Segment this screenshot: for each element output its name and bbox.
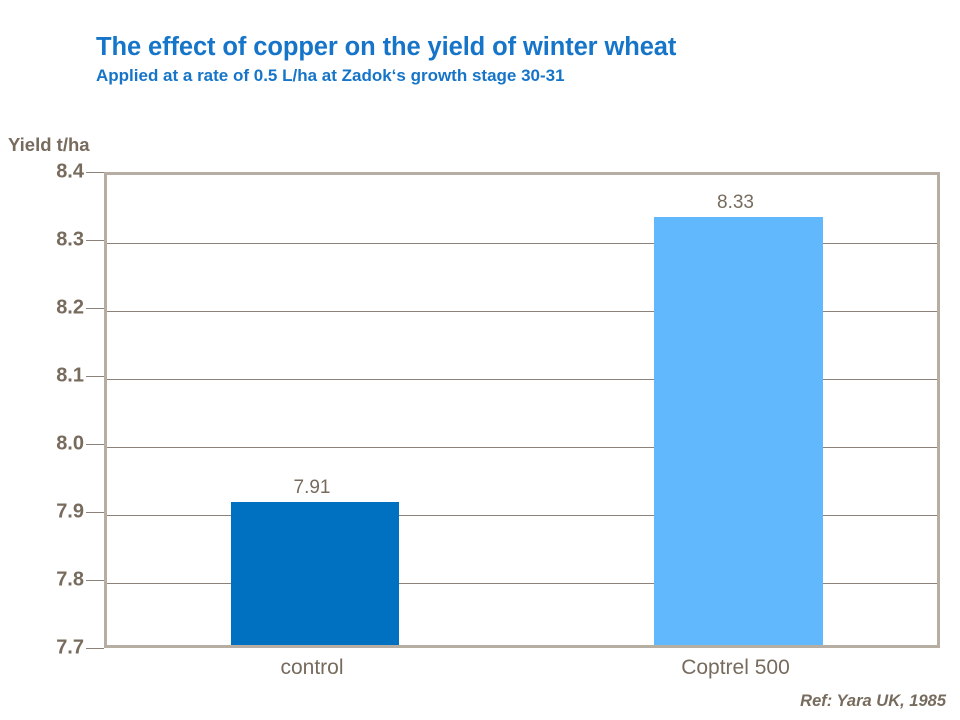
y-axis-tick-label: 7.9 bbox=[4, 501, 84, 524]
y-axis-tick-label: 7.7 bbox=[4, 637, 84, 660]
page-subtitle: Applied at a rate of 0.5 L/ha at Zadok‘s… bbox=[96, 65, 916, 87]
x-axis-label-control: control bbox=[168, 656, 456, 680]
y-axis-tick-label: 8.1 bbox=[4, 365, 84, 388]
slide-canvas: The effect of copper on the yield of win… bbox=[0, 0, 960, 720]
y-axis-tick-mark bbox=[86, 376, 104, 377]
page-title: The effect of copper on the yield of win… bbox=[96, 32, 916, 63]
x-axis-label-coptrel-500: Coptrel 500 bbox=[591, 656, 880, 680]
bar-value-label: 7.91 bbox=[228, 477, 396, 499]
y-axis-tick-mark bbox=[86, 444, 104, 445]
y-axis-tick-labels: 8.48.38.28.18.07.97.87.7 bbox=[0, 0, 84, 720]
y-axis-tick-mark bbox=[86, 240, 104, 241]
bar-coptrel-500[interactable] bbox=[654, 217, 823, 645]
y-axis-tick-label: 8.2 bbox=[4, 297, 84, 320]
bar-value-label: 8.33 bbox=[651, 192, 820, 214]
y-axis-tick-mark bbox=[86, 512, 104, 513]
y-axis-tick-label: 8.4 bbox=[4, 161, 84, 184]
y-axis-tick-label: 8.3 bbox=[4, 229, 84, 252]
y-axis-tick-mark bbox=[86, 172, 104, 173]
reference-note: Ref: Yara UK, 1985 bbox=[800, 692, 946, 711]
plot-area bbox=[104, 172, 940, 648]
y-axis-tick-mark bbox=[86, 580, 104, 581]
bar-control[interactable] bbox=[231, 502, 399, 645]
y-axis-tick-label: 7.8 bbox=[4, 569, 84, 592]
y-axis-tick-mark bbox=[86, 308, 104, 309]
title-block: The effect of copper on the yield of win… bbox=[96, 32, 916, 87]
y-axis-tick-label: 8.0 bbox=[4, 433, 84, 456]
y-axis-tick-mark bbox=[86, 648, 104, 649]
